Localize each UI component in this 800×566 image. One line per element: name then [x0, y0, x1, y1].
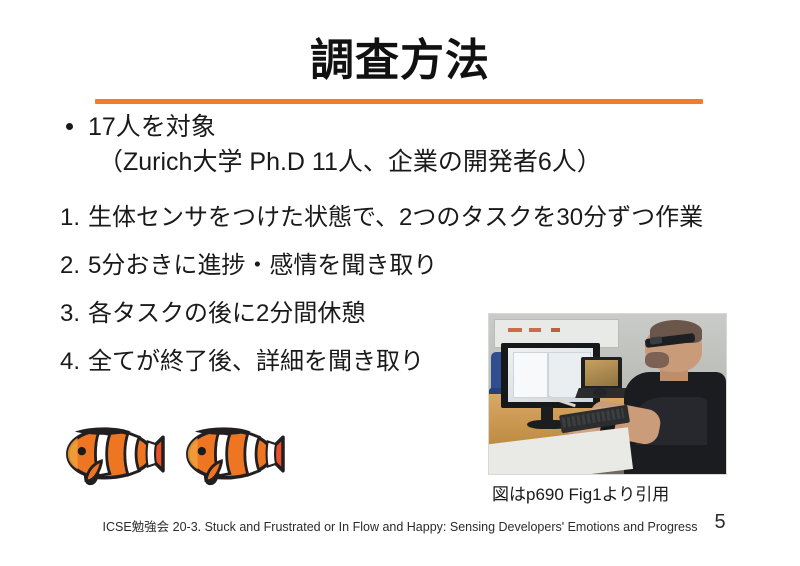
slide-canvas: 調査方法 17人を対象 （Zurich大学 Ph.D 11人、企業の開発者6人）…	[0, 0, 800, 566]
photo-whiteboard-mark	[508, 328, 522, 332]
photo-developer-with-sensors	[488, 313, 727, 475]
list-item-marker: 4.	[60, 347, 88, 377]
photo-whiteboard-mark	[529, 328, 541, 332]
list-item: 2. 5分おきに進捗・感情を聞き取り	[60, 251, 760, 281]
figure-photo	[488, 313, 727, 475]
list-item: 17人を対象	[62, 110, 742, 144]
list-item-marker: 2.	[60, 251, 88, 281]
list-item-label: 5分おきに進捗・感情を聞き取り	[88, 251, 760, 281]
photo-whiteboard-mark	[551, 328, 560, 332]
slide-footer: ICSE勉強会 20-3. Stuck and Frustrated or In…	[0, 516, 800, 535]
clownfish-icon	[58, 420, 170, 488]
list-item-marker: 1.	[60, 203, 88, 233]
bullet-dot-icon	[66, 123, 73, 130]
list-item-marker: 3.	[60, 299, 88, 329]
photo-screen-window	[513, 352, 548, 397]
clownfish-icon	[178, 420, 290, 488]
page-number: 5	[700, 511, 740, 534]
page-title: 調査方法	[0, 38, 800, 84]
list-item-label: 生体センサをつけた状態で、2つのタスクを30分ずつ作業	[88, 203, 760, 233]
clownfish-decoration	[58, 414, 288, 494]
photo-laptop-display	[585, 360, 618, 386]
photo-person-beard	[645, 352, 669, 368]
bullet-primary-text: 17人を対象	[88, 113, 216, 141]
figure-caption: 図はp690 Fig1より引用	[492, 484, 669, 506]
list-item: 1. 生体センサをつけた状態で、2つのタスクを30分ずつ作業	[60, 203, 760, 233]
bullet-sub-text: （Zurich大学 Ph.D 11人、企業の開発者6人）	[62, 144, 742, 180]
title-underline-rule	[95, 99, 703, 104]
bullet-block: 17人を対象 （Zurich大学 Ph.D 11人、企業の開発者6人）	[62, 110, 742, 180]
